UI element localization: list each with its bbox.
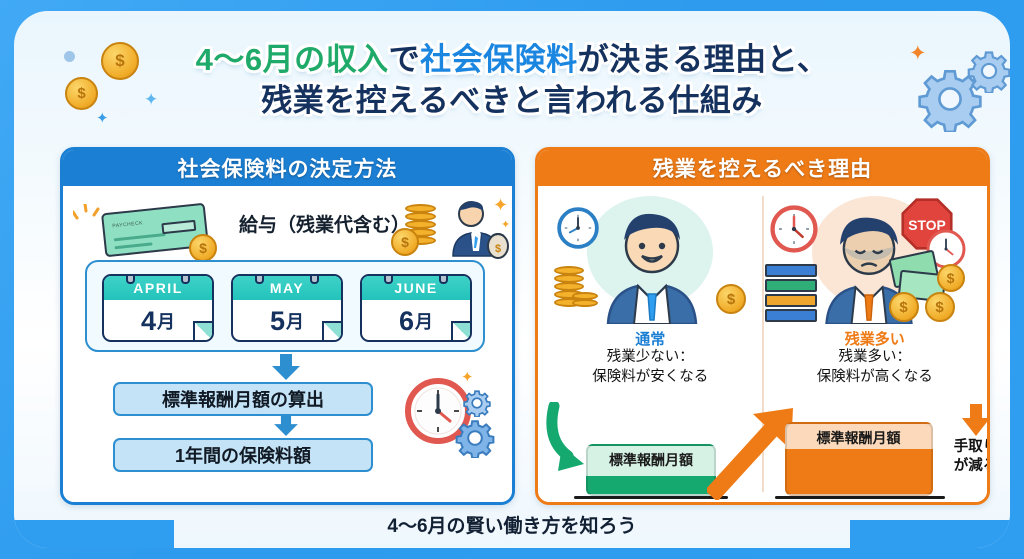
calendar-corner-fold	[193, 321, 212, 340]
panel-overtime-reason: 残業を控えるべき理由	[535, 147, 990, 505]
calendar-month-number: 4	[141, 306, 156, 337]
happy-worker-icon	[604, 206, 700, 324]
calendar-month-number: 6	[399, 306, 414, 337]
desc-normal: 残業少ない： 保険料が安くなる	[538, 348, 763, 387]
calendar-month-unit: 月	[286, 308, 304, 334]
coin-symbol: $	[199, 240, 207, 256]
flow-box-standard-remuneration: 標準報酬月額の算出	[113, 382, 373, 416]
coin-stack-small	[554, 266, 600, 316]
flow-box-annual-premium: 1年間の保険料額	[113, 438, 373, 472]
coin-single: $	[716, 284, 746, 314]
bar-overtime-baseline	[775, 496, 945, 499]
calendar-card-june: JUNE 6月	[360, 274, 472, 342]
calendar-month-number: 5	[270, 306, 285, 337]
svg-text:$: $	[495, 243, 501, 255]
title-block: 4〜6月の収入で社会保険料が決まる理由と、 残業を控えるべきと言われる仕組み	[14, 39, 1010, 121]
takehome-line2: が減る	[947, 457, 991, 476]
desc-normal-line1: 残業少ない：	[538, 348, 763, 368]
salary-row: PAYCHECK $ 給与（残業代含む）	[63, 192, 512, 258]
title-line-2: 残業を控えるべきと言われる仕組み	[14, 80, 1010, 121]
coin-stack-icon: $	[393, 202, 439, 254]
gear-icon-left-panel-1	[455, 418, 495, 458]
bar-normal-label: 標準報酬月額	[609, 446, 693, 470]
calendar-group: APRIL 4月 MAY 5月	[85, 260, 485, 352]
bar-overtime-remuneration: 標準報酬月額	[785, 422, 933, 496]
coin-symbol: $	[727, 291, 735, 308]
panel-left-header: 社会保険料の決定方法	[63, 150, 512, 186]
panel-right-body: $ 通常 残業少ない： 保険料が安くなる 標準報酬月額	[538, 186, 987, 502]
paycheck-microtext: PAYCHECK	[112, 220, 143, 229]
calendar-corner-fold	[322, 321, 341, 340]
flow-arrow-1	[269, 354, 303, 380]
paycheck-amount-box	[161, 220, 196, 234]
coin-symbol: $	[401, 234, 409, 250]
calendar-month-en: APRIL	[104, 276, 212, 300]
coin-symbol: $	[899, 299, 907, 316]
title-segment-period: 4〜6月の収入	[196, 42, 389, 77]
clock-icon-red	[769, 204, 819, 254]
panel-decision-method: 社会保険料の決定方法 PAYCHECK	[60, 147, 515, 505]
overtime-illustration: STOP	[763, 192, 988, 328]
decor-sparkle-lines	[73, 204, 103, 234]
gear-icon-left-panel-2	[463, 389, 491, 417]
footer-text: 4〜6月の賢い働き方を知ろう	[14, 511, 1010, 538]
main-card: $ $ ✦ ✦ ✦	[14, 11, 1010, 548]
calendar-month-unit: 月	[415, 308, 433, 334]
decor-sparkle-clock: ✦	[461, 370, 474, 385]
takehome-line1: 手取り	[947, 438, 991, 457]
salary-label: 給与（残業代含む）	[239, 210, 410, 237]
desc-normal-line2: 保険料が安くなる	[538, 368, 763, 388]
panel-right-header: 残業を控えるべき理由	[538, 150, 987, 186]
clock-icon-blue	[556, 206, 600, 250]
calendar-card-may: MAY 5月	[231, 274, 343, 342]
desc-overtime: 残業多い： 保険料が高くなる	[763, 348, 988, 387]
bar-overtime-label: 標準報酬月額	[817, 424, 901, 448]
orange-arrow-down-icon	[959, 404, 991, 436]
desc-overtime-line2: 保険料が高くなる	[763, 368, 988, 388]
coin-stack-overtime-2: $	[925, 292, 955, 322]
normal-illustration: $	[538, 192, 763, 328]
bar-normal-baseline	[574, 496, 728, 499]
coin-stack-overtime-3: $	[937, 264, 965, 292]
panel-left-body: PAYCHECK $ 給与（残業代含む）	[63, 186, 512, 502]
flow-arrow-2	[269, 414, 303, 436]
coin-stack-overtime-1: $	[889, 292, 919, 322]
decor-sparkle-yellow-small: ✦	[501, 220, 510, 231]
comparison-overtime: STOP	[763, 186, 988, 502]
calendar-month-unit: 月	[157, 308, 175, 334]
title-line-1: 4〜6月の収入で社会保険料が決まる理由と、	[14, 39, 1010, 80]
title-segment-insurance: 社会保険料	[420, 42, 578, 77]
calendar-card-april: APRIL 4月	[102, 274, 214, 342]
infographic-canvas: $ $ ✦ ✦ ✦	[0, 0, 1024, 559]
calendar-corner-fold	[451, 321, 470, 340]
coin-symbol: $	[935, 299, 943, 316]
paycheck-coin: $	[189, 234, 217, 262]
takehome-reduced-text: 手取り が減る	[947, 438, 991, 476]
calendar-month-en: JUNE	[362, 276, 470, 300]
label-normal: 通常	[538, 328, 763, 349]
desc-overtime-line1: 残業多い：	[763, 348, 988, 368]
binder-stack-icon	[765, 264, 817, 322]
calendar-month-en: MAY	[233, 276, 341, 300]
bar-normal-remuneration: 標準報酬月額	[586, 444, 716, 496]
decor-sparkle-yellow: ✦	[493, 196, 508, 214]
title-segment-de: で	[389, 42, 421, 77]
title-segment-reason: が決まる理由と、	[578, 42, 829, 77]
coin-symbol: $	[947, 270, 955, 286]
label-overtime: 残業多い	[763, 328, 988, 349]
